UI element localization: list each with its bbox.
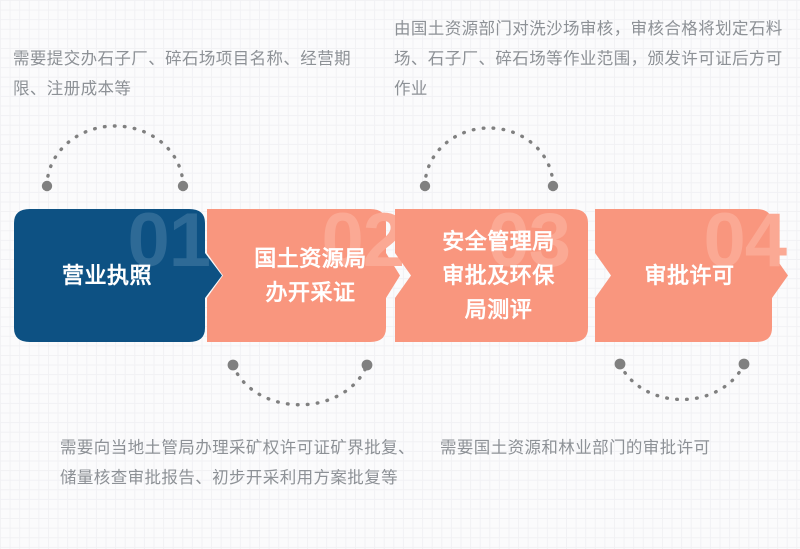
note-step-03: 由国土资源部门对洗沙场审核，审核合格将划定石料场、石子厂、碎石场等作业范围，颁发… bbox=[394, 14, 784, 104]
arc-bottom-right-path bbox=[620, 364, 744, 399]
note-step-02: 需要向当地土管局办理采矿权许可证矿界批复、储量核查审批报告、初步开采利用方案批复… bbox=[60, 433, 430, 493]
note-step-04: 需要国土资源和林业部门的审批许可 bbox=[440, 433, 800, 463]
arc-top-left-end-dot bbox=[178, 181, 188, 191]
step-01-label: 营业执照 bbox=[62, 259, 174, 293]
arc-top-left-path bbox=[47, 126, 183, 186]
step-03-label: 安全管理局 审批及环保 局测评 bbox=[428, 225, 555, 327]
process-step-band: 01 营业执照 02 国土资源局 办开采证 03 安全管理局 审批及环保 局测评… bbox=[0, 209, 800, 342]
arc-top-right-start-dot bbox=[420, 181, 430, 191]
arc-bottom-left-path bbox=[233, 365, 367, 405]
arc-bottom-right-group bbox=[615, 359, 750, 400]
note-step-01: 需要提交办石子厂、碎石场项目名称、经营期限、注册成本等 bbox=[13, 44, 383, 104]
step-item-04[interactable]: 04 审批许可 bbox=[595, 209, 788, 342]
arc-top-right-group bbox=[420, 128, 558, 191]
arc-top-right-end-dot bbox=[548, 181, 558, 191]
arc-bottom-left-start-dot bbox=[228, 360, 239, 371]
arc-bottom-right-end-dot bbox=[739, 359, 750, 370]
infographic-canvas: 需要提交办石子厂、碎石场项目名称、经营期限、注册成本等 由国土资源部门对洗沙场审… bbox=[0, 0, 800, 549]
step-02-label: 国土资源局 办开采证 bbox=[240, 242, 367, 310]
step-item-01[interactable]: 01 营业执照 bbox=[14, 209, 222, 342]
arc-bottom-left-end-dot bbox=[362, 360, 373, 371]
arc-top-right-path bbox=[425, 128, 553, 186]
arc-top-left-group bbox=[42, 126, 188, 191]
step-item-02[interactable]: 02 国土资源局 办开采证 bbox=[207, 209, 400, 342]
arc-bottom-right-start-dot bbox=[615, 359, 626, 370]
arc-bottom-left-group bbox=[228, 360, 373, 405]
arc-top-left-start-dot bbox=[42, 181, 52, 191]
step-04-label: 审批许可 bbox=[634, 259, 748, 293]
step-item-03[interactable]: 03 安全管理局 审批及环保 局测评 bbox=[395, 209, 588, 342]
